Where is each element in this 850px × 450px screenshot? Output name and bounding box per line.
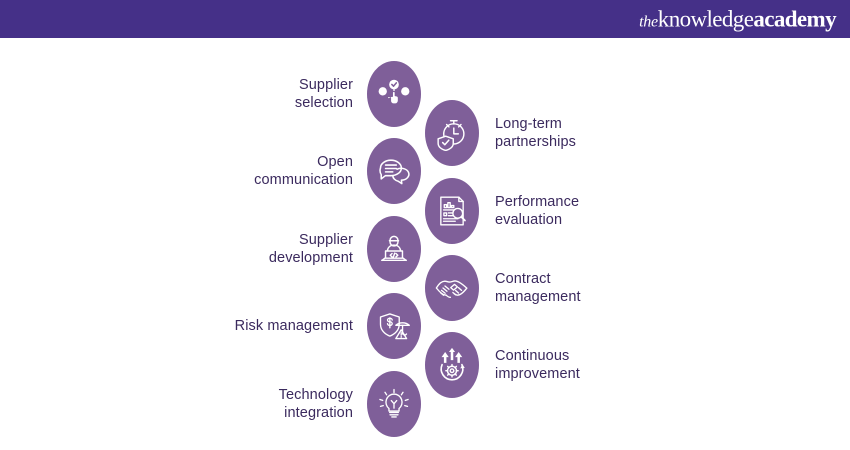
supplier-relationship-diagram: Supplier selection Open communication: [0, 38, 850, 450]
node-continuous-improvement[interactable]: Continuous improvement: [425, 332, 665, 398]
badge-open-communication: [367, 138, 421, 204]
badge-supplier-development: [367, 216, 421, 282]
supplier-selection-icon: [376, 76, 412, 112]
brand-logo: theknowledgeacademy: [639, 8, 836, 31]
node-supplier-selection[interactable]: Supplier selection: [205, 61, 421, 127]
header-bar: theknowledgeacademy: [0, 0, 850, 38]
node-label-long-term-partnerships: Long-term partnerships: [479, 115, 665, 152]
badge-technology-integration: [367, 371, 421, 437]
performance-evaluation-icon: [434, 193, 470, 229]
open-communication-icon: [376, 153, 412, 189]
node-label-continuous-improvement: Continuous improvement: [479, 347, 665, 384]
badge-contract-management: [425, 255, 479, 321]
badge-long-term-partnerships: [425, 100, 479, 166]
brand-logo-the: the: [639, 14, 658, 31]
badge-risk-management: [367, 293, 421, 359]
badge-continuous-improvement: [425, 332, 479, 398]
continuous-improvement-icon: [434, 347, 470, 383]
supplier-development-icon: [376, 231, 412, 267]
node-open-communication[interactable]: Open communication: [205, 138, 421, 204]
node-label-open-communication: Open communication: [205, 153, 367, 190]
node-label-technology-integration: Technology integration: [205, 386, 367, 423]
contract-management-icon: [434, 270, 470, 306]
node-label-supplier-development: Supplier development: [205, 231, 367, 268]
brand-logo-academy: academy: [753, 7, 836, 32]
long-term-partnerships-icon: [434, 115, 470, 151]
risk-management-icon: [376, 308, 412, 344]
node-contract-management[interactable]: Contract management: [425, 255, 665, 321]
node-label-risk-management: Risk management: [205, 317, 367, 335]
node-label-supplier-selection: Supplier selection: [205, 76, 367, 113]
node-label-performance-evaluation: Performance evaluation: [479, 193, 665, 230]
technology-integration-icon: [376, 386, 412, 422]
node-supplier-development[interactable]: Supplier development: [205, 216, 421, 282]
badge-performance-evaluation: [425, 178, 479, 244]
node-performance-evaluation[interactable]: Performance evaluation: [425, 178, 665, 244]
node-risk-management[interactable]: Risk management: [205, 293, 421, 359]
node-long-term-partnerships[interactable]: Long-term partnerships: [425, 100, 665, 166]
badge-supplier-selection: [367, 61, 421, 127]
brand-logo-knowledge: knowledge: [658, 7, 754, 32]
node-label-contract-management: Contract management: [479, 270, 665, 307]
node-technology-integration[interactable]: Technology integration: [205, 371, 421, 437]
